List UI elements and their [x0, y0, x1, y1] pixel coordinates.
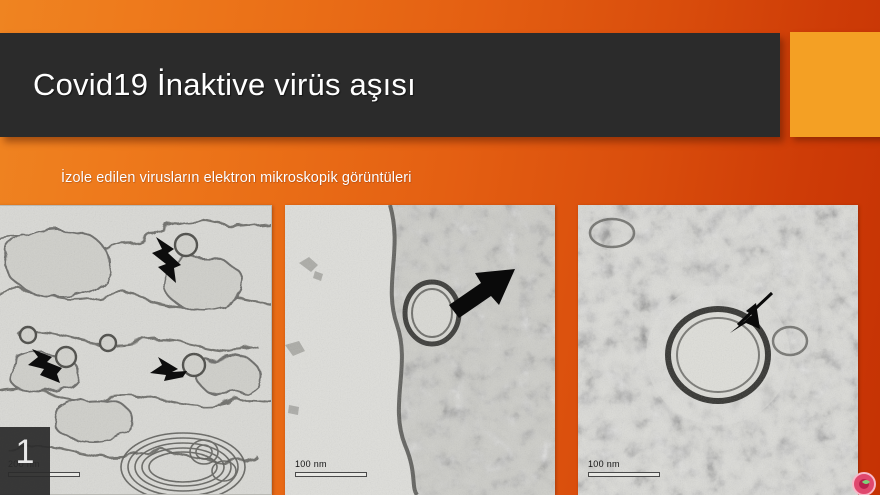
subtitle-text: İzole edilen virusların elektron mikrosk…	[61, 170, 412, 186]
electron-micrograph-3: 100 nm	[578, 205, 858, 495]
accent-block	[790, 32, 880, 137]
scalebar-3-bar	[588, 472, 660, 477]
slide-number-text: 1	[16, 435, 35, 469]
scalebar-2-bar	[295, 472, 367, 477]
scalebar-3-label: 100 nm	[588, 459, 620, 469]
scalebar-2-label: 100 nm	[295, 459, 327, 469]
em-image-3-graphic	[578, 205, 858, 495]
scalebar-3: 100 nm	[588, 460, 660, 477]
em-image-2-graphic	[285, 205, 555, 495]
page-title: Covid19 İnaktive virüs aşısı	[0, 67, 416, 103]
corner-logo-icon	[848, 465, 878, 495]
title-bar: Covid19 İnaktive virüs aşısı	[0, 33, 780, 137]
scalebar-2: 100 nm	[295, 460, 367, 477]
presentation-slide: Covid19 İnaktive virüs aşısı İzole edile…	[0, 0, 880, 495]
electron-micrograph-2: 100 nm	[285, 205, 555, 495]
slide-number-badge: 1	[0, 427, 50, 495]
